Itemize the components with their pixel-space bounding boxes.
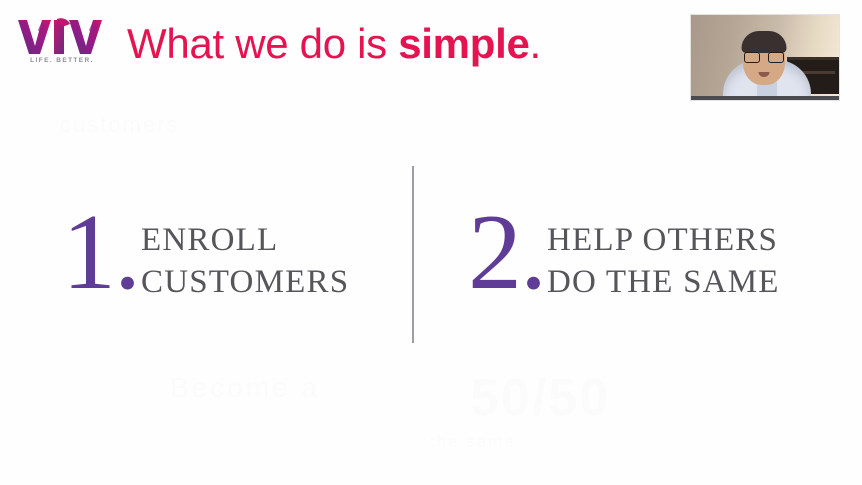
step-number-2: 2. [468, 194, 545, 312]
ghost-artifact-a: Become a [170, 372, 320, 404]
slide-title-period: . [530, 20, 541, 67]
webcam-bottom-bar [691, 96, 839, 100]
step-item-2: 2. HELP OTHERS DO THE SAME [468, 160, 780, 312]
steps-container: 1. ENROLL CUSTOMERS 2. HELP OTHERS DO TH… [0, 160, 862, 350]
steps-divider [412, 166, 414, 343]
ghost-artifact-b: 50/50 [470, 368, 610, 428]
presenter-glasses-icon [743, 52, 785, 63]
slide-title-emphasis: simple [398, 20, 529, 67]
viv-wordmark-icon [14, 16, 110, 56]
slide-title-plain: What we do is [127, 20, 398, 67]
step-item-1: 1. ENROLL CUSTOMERS [62, 160, 349, 312]
brand-tagline: LIFE. BETTER. [14, 57, 110, 64]
presenter-webcam-tile[interactable] [690, 14, 840, 101]
step-label-2: HELP OTHERS DO THE SAME [547, 219, 780, 303]
ghost-artifact-c: the same [430, 432, 516, 452]
step-number-1: 1. [62, 194, 139, 312]
presenter-hair [742, 31, 787, 53]
slide-title: What we do is simple. [127, 20, 541, 68]
ghost-artifact-d: customers [60, 112, 179, 138]
step-label-1: ENROLL CUSTOMERS [141, 219, 349, 303]
presentation-slide: LIFE. BETTER. What we do is simple. cust… [0, 0, 862, 485]
viv-logo: LIFE. BETTER. [14, 16, 110, 74]
